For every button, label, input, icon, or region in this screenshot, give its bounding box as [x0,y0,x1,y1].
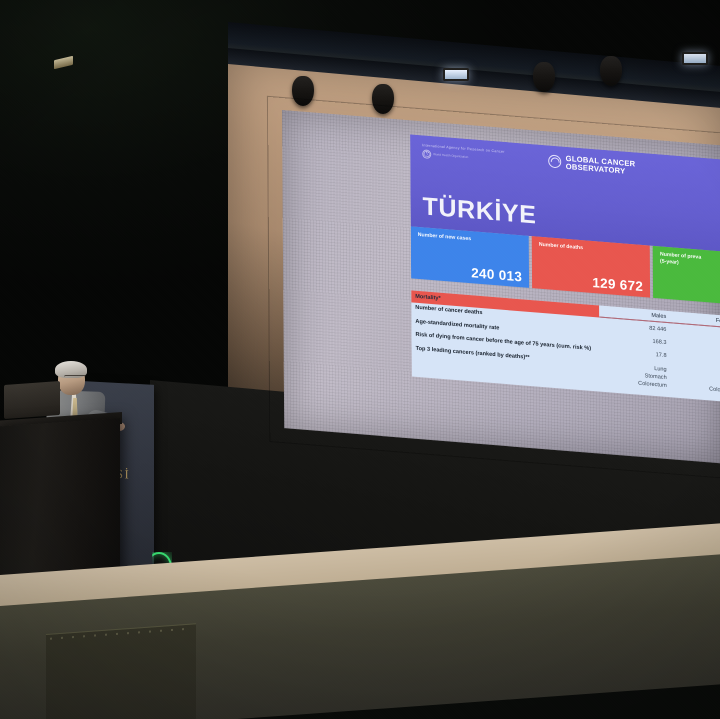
gco-slide: International Agency for Research on Can… [410,134,720,453]
stat-deaths-value: 129 672 [592,275,643,294]
laptop [4,381,60,419]
stat-new-cases-label: Number of new cases [418,232,522,247]
spotlight-icon [600,56,622,86]
stat-new-cases-value: 240 013 [471,265,522,284]
globe-icon [549,155,562,169]
panel-light-icon [682,52,708,65]
stat-new-cases: Number of new cases 240 013 [411,226,529,288]
spotlight-icon [372,84,394,114]
iarc-logo: International Agency for Research on Can… [422,143,505,165]
panel-light-icon [443,68,469,81]
spotlight-icon [533,62,555,92]
stat-prevalence-label: Number of preva (5-year) [660,251,720,270]
spotlight-icon [292,76,314,106]
who-emblem-icon [422,149,431,159]
row-males-top3: Lung Stomach Colorectum [600,358,671,393]
stat-prevalence: Number of preva (5-year) 6 [653,246,720,305]
stat-deaths: Number of deaths 129 672 [532,236,650,298]
stage-access-hatch [46,623,196,719]
who-label: World Health Organization [433,153,468,159]
country-title: TÜRKİYE [422,192,536,230]
stat-deaths-label: Number of deaths [539,242,643,257]
projection-screen: International Agency for Research on Can… [282,110,720,464]
row-females-top3: Breast Lung Colorectum [671,363,720,398]
global-cancer-observatory-logo: GLOBAL CANCER OBSERVATORY [549,153,636,176]
auditorium-photo: International Agency for Research on Can… [0,0,720,719]
glasses-icon [64,375,86,380]
